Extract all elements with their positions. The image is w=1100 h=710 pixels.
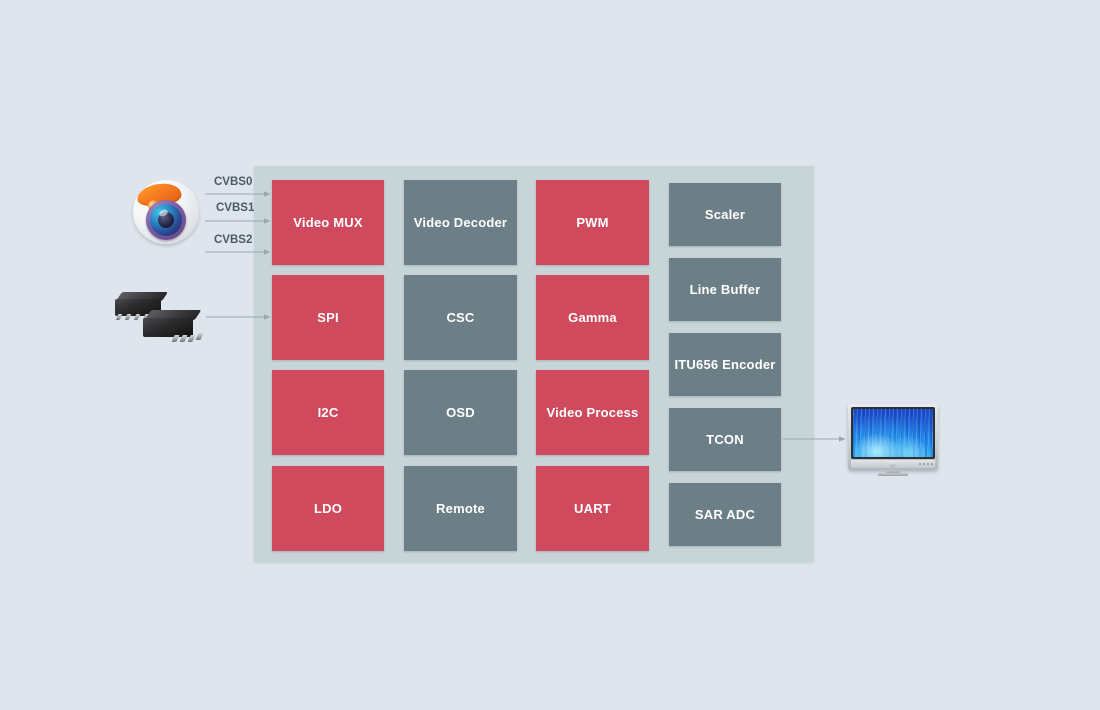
block-uart[interactable]: UART — [536, 466, 649, 551]
block-ldo[interactable]: LDO — [272, 466, 384, 551]
block-gamma[interactable]: Gamma — [536, 275, 649, 360]
block-video-decoder[interactable]: Video Decoder — [404, 180, 517, 265]
block-spi[interactable]: SPI — [272, 275, 384, 360]
block-pwm[interactable]: PWM — [536, 180, 649, 265]
monitor-indicator-leds — [919, 463, 933, 465]
block-i2c[interactable]: I2C — [272, 370, 384, 455]
block-sar-adc[interactable]: SAR ADC — [669, 483, 781, 546]
signal-label-cvbs1: CVBS1 — [216, 202, 254, 214]
block-line-buffer[interactable]: Line Buffer — [669, 258, 781, 321]
diagram-canvas: Video MUX SPI I2C LDO Video Decoder CSC … — [0, 0, 1100, 710]
block-osd[interactable]: OSD — [404, 370, 517, 455]
block-scaler[interactable]: Scaler — [669, 183, 781, 246]
ic-chip-icon — [115, 292, 207, 344]
block-remote[interactable]: Remote — [404, 466, 517, 551]
block-video-mux[interactable]: Video MUX — [272, 180, 384, 265]
signal-label-cvbs2: CVBS2 — [214, 234, 252, 246]
camera-lens-outer — [146, 200, 186, 240]
monitor-logo — [889, 461, 896, 467]
signal-label-cvbs0: CVBS0 — [214, 176, 252, 188]
monitor-screen — [853, 409, 933, 457]
monitor-icon — [848, 404, 938, 476]
monitor-foot — [878, 473, 908, 476]
camera-icon — [131, 176, 201, 246]
block-tcon[interactable]: TCON — [669, 408, 781, 471]
block-itu656-encoder[interactable]: ITU656 Encoder — [669, 333, 781, 396]
block-csc[interactable]: CSC — [404, 275, 517, 360]
block-video-process[interactable]: Video Process — [536, 370, 649, 455]
camera-lens-mid — [150, 204, 182, 236]
